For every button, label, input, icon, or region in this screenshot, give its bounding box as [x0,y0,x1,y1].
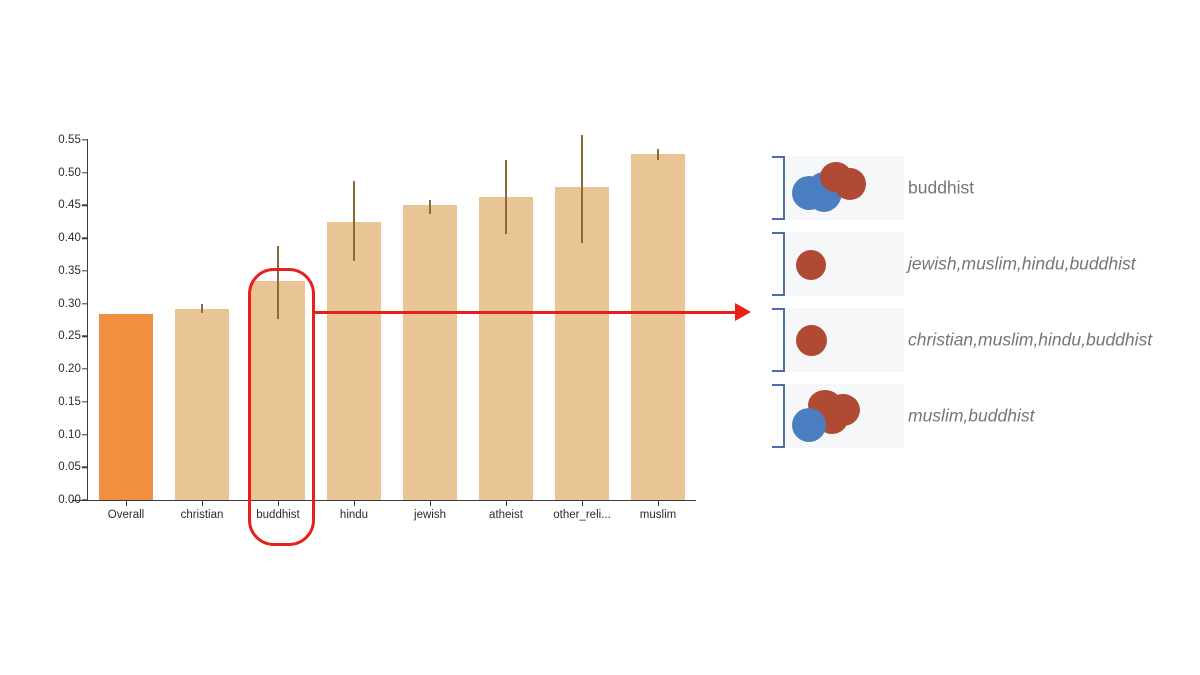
concept-thumbnail[interactable] [786,308,904,372]
y-tick-mark [82,467,88,468]
y-tick-mark [82,401,88,402]
callout-arrow-head [735,303,751,321]
x-tick-label: Overall [108,509,144,521]
buddhist-highlight-box [248,268,315,546]
bracket-icon [772,156,785,220]
bar-overall[interactable] [99,314,153,500]
bar-jewish[interactable] [403,205,457,500]
x-axis-line [72,500,696,501]
y-tick-mark [82,172,88,173]
bar-atheist[interactable] [479,197,533,500]
y-tick-mark [82,303,88,304]
error-bar [657,149,658,161]
x-tick-label: hindu [340,509,368,521]
y-tick-mark [82,237,88,238]
result-row-label: buddhist [908,178,974,199]
result-row[interactable]: buddhist [760,152,1200,224]
y-tick-mark [82,336,88,337]
x-tick-mark [506,500,507,506]
x-tick-label: other_reli... [553,509,611,521]
error-bar [201,304,202,314]
y-tick-mark [82,434,88,435]
x-tick-mark [582,500,583,506]
bar-chart-panel: 0.000.050.100.150.200.250.300.350.400.45… [0,0,760,675]
y-tick-mark [82,368,88,369]
x-tick-mark [126,500,127,506]
result-row[interactable]: jewish,muslim,hindu,buddhist [760,228,1200,300]
blob-shape [834,168,866,200]
error-bar [581,135,582,243]
error-bar [429,200,430,214]
result-row-label: muslim,buddhist [908,406,1034,427]
y-tick-mark [82,205,88,206]
result-row-label: jewish,muslim,hindu,buddhist [908,254,1136,275]
error-bar [505,160,506,234]
x-tick-mark [430,500,431,506]
bar-muslim[interactable] [631,154,685,500]
y-tick-mark [82,270,88,271]
blob-shape [792,408,826,442]
blob-shape [796,250,826,280]
bracket-icon [772,232,785,296]
x-tick-mark [354,500,355,506]
bar-christian[interactable] [175,309,229,500]
x-tick-label: atheist [489,509,523,521]
concept-thumbnail[interactable] [786,156,904,220]
bracket-icon [772,308,785,372]
x-tick-label: christian [181,509,224,521]
error-bar [353,181,354,262]
concept-thumbnail[interactable] [786,232,904,296]
concept-thumbnail[interactable] [786,384,904,448]
x-tick-label: muslim [640,509,676,521]
results-list: buddhistjewish,muslim,hindu,buddhistchri… [760,140,1200,490]
bracket-icon [772,384,785,448]
x-tick-label: jewish [414,509,446,521]
result-row[interactable]: christian,muslim,hindu,buddhist [760,304,1200,376]
result-row-label: christian,muslim,hindu,buddhist [908,330,1152,351]
y-tick-mark [82,499,88,500]
plot-area: 0.000.050.100.150.200.250.300.350.400.45… [88,140,696,500]
x-tick-mark [202,500,203,506]
blob-shape [796,325,827,356]
y-tick-mark [82,139,88,140]
bar-hindu[interactable] [327,222,381,500]
x-tick-mark [658,500,659,506]
result-row[interactable]: muslim,buddhist [760,380,1200,452]
callout-arrow-line [313,311,738,314]
